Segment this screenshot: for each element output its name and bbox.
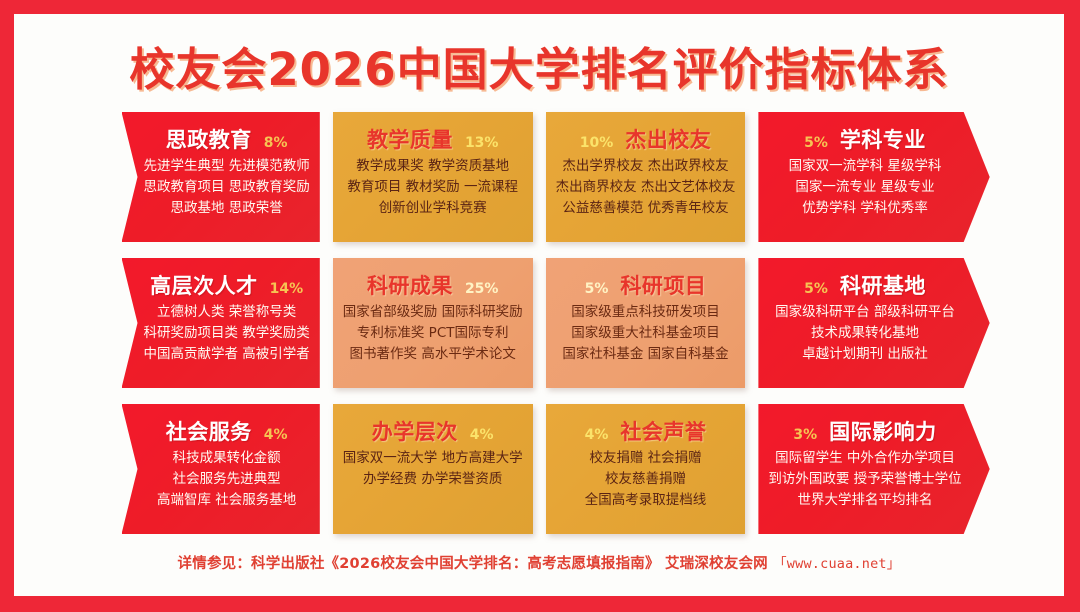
card-item: 杰出学界校友 杰出政界校友: [562, 158, 728, 176]
card-item-list: 国家省部级奖励 国际科研奖励专利标准奖 PCT国际专利图书著作奖 高水平学术论文: [343, 304, 523, 363]
card-item-list: 教学成果奖 教学资质基地教育项目 教材奖励 一流课程创新创业学科竞赛: [347, 158, 518, 217]
card-item: 国际留学生 中外合作办学项目: [775, 450, 955, 468]
card-item-list: 国家级科研平台 部级科研平台技术成果转化基地卓越计划期刊 出版社: [775, 304, 955, 363]
card-item: 公益慈善模范 优秀青年校友: [562, 200, 728, 218]
card-title: 社会服务: [166, 416, 252, 446]
card-weight-percent: 3%: [793, 427, 817, 443]
card-weight-percent: 14%: [270, 281, 304, 297]
card-item: 世界大学排名平均排名: [798, 492, 933, 510]
card-item: 思政基地 思政荣誉: [171, 200, 283, 218]
card-item: 校友慈善捐赠: [605, 471, 686, 489]
indicator-card-teaching-quality: 教学质量13%教学成果奖 教学资质基地教育项目 教材奖励 一流课程创新创业学科竞…: [333, 112, 533, 242]
card-header: 4%社会声誉: [585, 416, 707, 446]
title-container: 校友会2026中国大学排名评价指标体系: [14, 34, 1064, 96]
card-title: 办学层次: [372, 416, 458, 446]
card-item: 先进学生典型 先进模范教师: [144, 158, 310, 176]
card-title: 学科专业: [840, 124, 926, 154]
indicator-card-school-running-level: 办学层次4%国家双一流大学 地方高建大学办学经费 办学荣誉资质: [333, 404, 533, 534]
indicator-card-research-achievements: 科研成果25%国家省部级奖励 国际科研奖励专利标准奖 PCT国际专利图书著作奖 …: [333, 258, 533, 388]
card-title: 杰出校友: [625, 124, 711, 154]
card-weight-percent: 13%: [465, 135, 499, 151]
card-title: 科研项目: [620, 270, 706, 300]
card-header: 5%科研基地: [804, 270, 926, 300]
card-item: 社会服务先进典型: [173, 471, 281, 489]
card-item: 国家双一流学科 星级学科: [789, 158, 942, 176]
card-title: 科研成果: [367, 270, 453, 300]
card-header: 5%科研项目: [585, 270, 707, 300]
indicator-card-high-level-talent: 高层次人才14%立德树人类 荣誉称号类科研奖励项目类 教学奖励类中国高贡献学者 …: [122, 258, 320, 388]
card-weight-percent: 5%: [585, 281, 609, 297]
card-item: 创新创业学科竞赛: [379, 200, 487, 218]
card-item-list: 国家双一流学科 星级学科国家一流专业 星级专业优势学科 学科优秀率: [789, 158, 942, 217]
card-item: 教育项目 教材奖励 一流课程: [347, 179, 518, 197]
card-weight-percent: 5%: [804, 135, 828, 151]
indicator-card-international-influence: 3%国际影响力国际留学生 中外合作办学项目到访外国政要 授予荣誉博士学位世界大学…: [758, 404, 989, 534]
card-header: 思政教育8%: [166, 124, 288, 154]
card-weight-percent: 5%: [804, 281, 828, 297]
card-item-list: 立德树人类 荣誉称号类科研奖励项目类 教学奖励类中国高贡献学者 高被引学者: [144, 304, 310, 363]
indicator-grid: 思政教育8%先进学生典型 先进模范教师思政教育项目 思政教育奖励思政基地 思政荣…: [122, 112, 957, 534]
poster-canvas: 校友会2026中国大学排名评价指标体系 思政教育8%先进学生典型 先进模范教师思…: [14, 14, 1064, 596]
card-item-list: 国际留学生 中外合作办学项目到访外国政要 授予荣誉博士学位世界大学排名平均排名: [768, 450, 961, 509]
card-header: 办学层次4%: [372, 416, 494, 446]
card-item-list: 杰出学界校友 杰出政界校友杰出商界校友 杰出文艺体校友公益慈善模范 优秀青年校友: [556, 158, 736, 217]
card-item-list: 科技成果转化金额社会服务先进典型高端智库 社会服务基地: [157, 450, 296, 509]
indicator-card-outstanding-alumni: 10%杰出校友杰出学界校友 杰出政界校友杰出商界校友 杰出文艺体校友公益慈善模范…: [546, 112, 746, 242]
card-item: 技术成果转化基地: [811, 325, 919, 343]
footer-text: 详情参见：科学出版社《2026校友会中国大学排名：高考志愿填报指南》 艾瑞深校友…: [178, 556, 768, 572]
card-item: 教学成果奖 教学资质基地: [356, 158, 509, 176]
card-weight-percent: 25%: [465, 281, 499, 297]
indicator-card-research-projects: 5%科研项目国家级重点科技研发项目国家级重大社科基金项目国家社科基金 国家自科基…: [546, 258, 746, 388]
card-weight-percent: 4%: [585, 427, 609, 443]
card-header: 科研成果25%: [367, 270, 499, 300]
card-weight-percent: 10%: [580, 135, 614, 151]
card-header: 社会服务4%: [166, 416, 288, 446]
card-weight-percent: 4%: [470, 427, 494, 443]
card-item-list: 校友捐赠 社会捐赠校友慈善捐赠全国高考录取提档线: [585, 450, 707, 509]
card-title: 高层次人才: [150, 270, 258, 300]
card-item-list: 国家级重点科技研发项目国家级重大社科基金项目国家社科基金 国家自科基金: [562, 304, 728, 363]
card-title: 思政教育: [166, 124, 252, 154]
footer-url[interactable]: 「www.cuaa.net」: [773, 556, 900, 572]
card-item: 专利标准奖 PCT国际专利: [357, 325, 509, 343]
page-title: 校友会2026中国大学排名评价指标体系: [129, 33, 948, 98]
card-item: 国家级重大社科基金项目: [571, 325, 720, 343]
card-weight-percent: 4%: [264, 427, 288, 443]
indicator-card-social-reputation: 4%社会声誉校友捐赠 社会捐赠校友慈善捐赠全国高考录取提档线: [546, 404, 746, 534]
card-item: 优势学科 学科优秀率: [802, 200, 928, 218]
indicator-card-social-service: 社会服务4%科技成果转化金额社会服务先进典型高端智库 社会服务基地: [122, 404, 320, 534]
card-item: 办学经费 办学荣誉资质: [363, 471, 502, 489]
card-header: 3%国际影响力: [793, 416, 936, 446]
card-item: 国家省部级奖励 国际科研奖励: [343, 304, 523, 322]
card-item-list: 国家双一流大学 地方高建大学办学经费 办学荣誉资质: [343, 450, 523, 489]
card-item: 科技成果转化金额: [173, 450, 281, 468]
card-item: 科研奖励项目类 教学奖励类: [144, 325, 310, 343]
card-title: 科研基地: [840, 270, 926, 300]
footer-note: 详情参见：科学出版社《2026校友会中国大学排名：高考志愿填报指南》 艾瑞深校友…: [178, 552, 901, 573]
card-item: 图书著作奖 高水平学术论文: [350, 346, 516, 364]
card-item: 高端智库 社会服务基地: [157, 492, 296, 510]
card-item: 国家社科基金 国家自科基金: [562, 346, 728, 364]
card-header: 高层次人才14%: [150, 270, 303, 300]
card-item: 国家级科研平台 部级科研平台: [775, 304, 955, 322]
card-item: 思政教育项目 思政教育奖励: [144, 179, 310, 197]
card-header: 教学质量13%: [367, 124, 499, 154]
card-item-list: 先进学生典型 先进模范教师思政教育项目 思政教育奖励思政基地 思政荣誉: [144, 158, 310, 217]
poster-frame: 校友会2026中国大学排名评价指标体系 思政教育8%先进学生典型 先进模范教师思…: [0, 0, 1080, 612]
card-title: 教学质量: [367, 124, 453, 154]
card-header: 5%学科专业: [804, 124, 926, 154]
card-item: 立德树人类 荣誉称号类: [157, 304, 296, 322]
card-item: 中国高贡献学者 高被引学者: [144, 346, 310, 364]
card-item: 国家双一流大学 地方高建大学: [343, 450, 523, 468]
indicator-card-ideological-political-education: 思政教育8%先进学生典型 先进模范教师思政教育项目 思政教育奖励思政基地 思政荣…: [122, 112, 320, 242]
card-item: 全国高考录取提档线: [585, 492, 707, 510]
card-item: 校友捐赠 社会捐赠: [589, 450, 701, 468]
indicator-card-disciplines-and-majors: 5%学科专业国家双一流学科 星级学科国家一流专业 星级专业优势学科 学科优秀率: [758, 112, 989, 242]
card-item: 卓越计划期刊 出版社: [802, 346, 928, 364]
card-item: 国家级重点科技研发项目: [571, 304, 720, 322]
card-weight-percent: 8%: [264, 135, 288, 151]
card-item: 杰出商界校友 杰出文艺体校友: [556, 179, 736, 197]
card-title: 国际影响力: [829, 416, 937, 446]
card-header: 10%杰出校友: [580, 124, 712, 154]
card-item: 国家一流专业 星级专业: [795, 179, 934, 197]
indicator-card-research-bases: 5%科研基地国家级科研平台 部级科研平台技术成果转化基地卓越计划期刊 出版社: [758, 258, 989, 388]
card-title: 社会声誉: [620, 416, 706, 446]
card-item: 到访外国政要 授予荣誉博士学位: [768, 471, 961, 489]
